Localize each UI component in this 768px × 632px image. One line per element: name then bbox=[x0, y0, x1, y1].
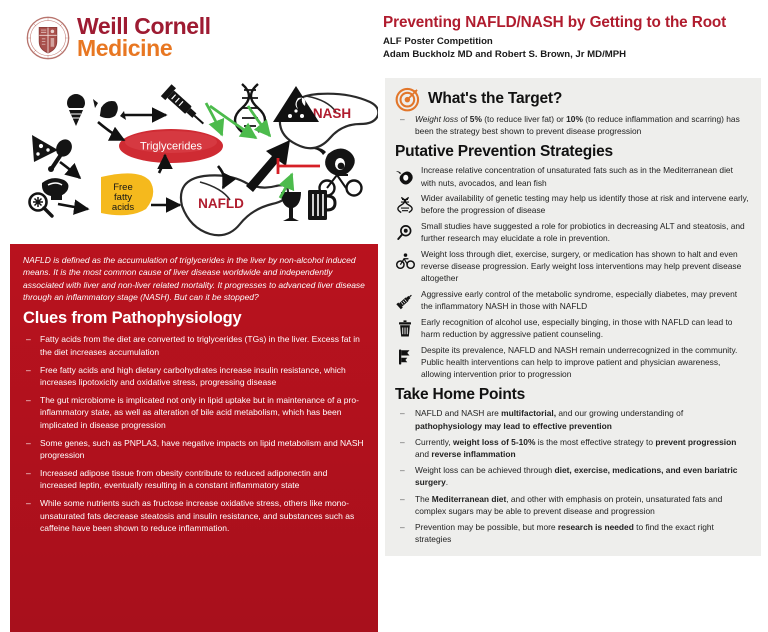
clues-bullet-list: Fatty acids from the diet are converted … bbox=[23, 333, 365, 534]
target-section-title: What's the Target? bbox=[428, 90, 562, 108]
list-item: Increase relative concentration of unsat… bbox=[395, 164, 749, 188]
nash-label: NASH bbox=[313, 106, 351, 121]
target-section-header: What's the Target? bbox=[395, 86, 749, 112]
nafld-definition: NAFLD is defined as the accumulation of … bbox=[23, 254, 365, 303]
target-dartboard-icon bbox=[395, 86, 421, 112]
signpost-icon bbox=[395, 347, 415, 367]
trash-bin-icon bbox=[395, 319, 415, 339]
poster-title: Preventing NAFLD/NASH by Getting to the … bbox=[383, 14, 761, 32]
list-item: Early recognition of alcohol use, especi… bbox=[395, 316, 749, 340]
list-item: Currently, weight loss of 5-10% is the m… bbox=[395, 436, 749, 460]
right-column: What's the Target? Weight loss of 5% (to… bbox=[385, 78, 761, 556]
list-item: While some nutrients such as fructose in… bbox=[23, 497, 365, 534]
avocado-icon bbox=[395, 167, 415, 187]
dna-helix-icon bbox=[395, 195, 415, 215]
poster-subtitle: ALF Poster Competition bbox=[383, 36, 761, 47]
poster-canvas: Weill Cornell Medicine Preventing NAFLD/… bbox=[0, 0, 768, 576]
strategies-section-title: Putative Prevention Strategies bbox=[395, 143, 749, 161]
pathophysiology-red-box: NAFLD is defined as the accumulation of … bbox=[10, 244, 378, 632]
weill-cornell-logo: Weill Cornell Medicine bbox=[26, 16, 211, 60]
list-item: Weight loss of 5% (to reduce liver fat) … bbox=[395, 113, 749, 137]
list-item: Increased adipose tissue from obesity co… bbox=[23, 467, 365, 492]
list-item: Despite its prevalence, NAFLD and NASH r… bbox=[395, 344, 749, 381]
clues-heading: Clues from Pathophysiology bbox=[23, 309, 365, 328]
syringe-icon bbox=[395, 291, 415, 311]
takehome-list: NAFLD and NASH are multifactorial, and o… bbox=[395, 407, 749, 545]
logo-line-2: Medicine bbox=[77, 38, 211, 60]
list-item-text: Early recognition of alcohol use, especi… bbox=[421, 316, 749, 340]
title-block: Preventing NAFLD/NASH by Getting to the … bbox=[383, 14, 761, 60]
target-bullet-list: Weight loss of 5% (to reduce liver fat) … bbox=[395, 113, 749, 137]
list-item-text: Increase relative concentration of unsat… bbox=[421, 164, 749, 188]
list-item: Some genes, such as PNPLA3, have negativ… bbox=[23, 437, 365, 462]
list-item-text: Despite its prevalence, NAFLD and NASH r… bbox=[421, 344, 749, 381]
poster-authors: Adam Buckholz MD and Robert S. Brown, Jr… bbox=[383, 49, 761, 60]
list-item-text: Small studies have suggested a role for … bbox=[421, 220, 749, 244]
nafld-label: NAFLD bbox=[198, 196, 244, 211]
list-item-text: Aggressive early control of the metaboli… bbox=[421, 288, 749, 312]
list-item: Wider availability of genetic testing ma… bbox=[395, 192, 749, 216]
poster-header: Weill Cornell Medicine Preventing NAFLD/… bbox=[0, 0, 768, 78]
list-item: Prevention may be possible, but more res… bbox=[395, 521, 749, 545]
list-item-text: Wider availability of genetic testing ma… bbox=[421, 192, 749, 216]
strategies-list: Increase relative concentration of unsat… bbox=[395, 164, 749, 380]
list-item: The gut microbiome is implicated not onl… bbox=[23, 394, 365, 431]
left-column: Triglycerides Free fatty acids NAFLD NAS… bbox=[10, 78, 378, 566]
magnifying-glass-icon bbox=[395, 223, 415, 243]
takehome-section-title: Take Home Points bbox=[395, 386, 749, 404]
list-item: Weight loss through diet, exercise, surg… bbox=[395, 248, 749, 285]
list-item: Aggressive early control of the metaboli… bbox=[395, 288, 749, 312]
cornell-seal-icon bbox=[26, 16, 70, 60]
list-item: NAFLD and NASH are multifactorial, and o… bbox=[395, 407, 749, 431]
list-item: Weight loss can be achieved through diet… bbox=[395, 464, 749, 488]
list-item: Fatty acids from the diet are converted … bbox=[23, 333, 365, 358]
bicycle-icon bbox=[395, 251, 415, 271]
list-item: The Mediterranean diet, and other with e… bbox=[395, 493, 749, 517]
ffa-label-3: acids bbox=[112, 202, 134, 213]
list-item-text: Weight loss through diet, exercise, surg… bbox=[421, 248, 749, 285]
list-item: Small studies have suggested a role for … bbox=[395, 220, 749, 244]
list-item: Free fatty acids and high dietary carboh… bbox=[23, 364, 365, 389]
triglycerides-label: Triglycerides bbox=[140, 141, 202, 153]
pathophysiology-diagram: Triglycerides Free fatty acids NAFLD NAS… bbox=[10, 78, 378, 241]
